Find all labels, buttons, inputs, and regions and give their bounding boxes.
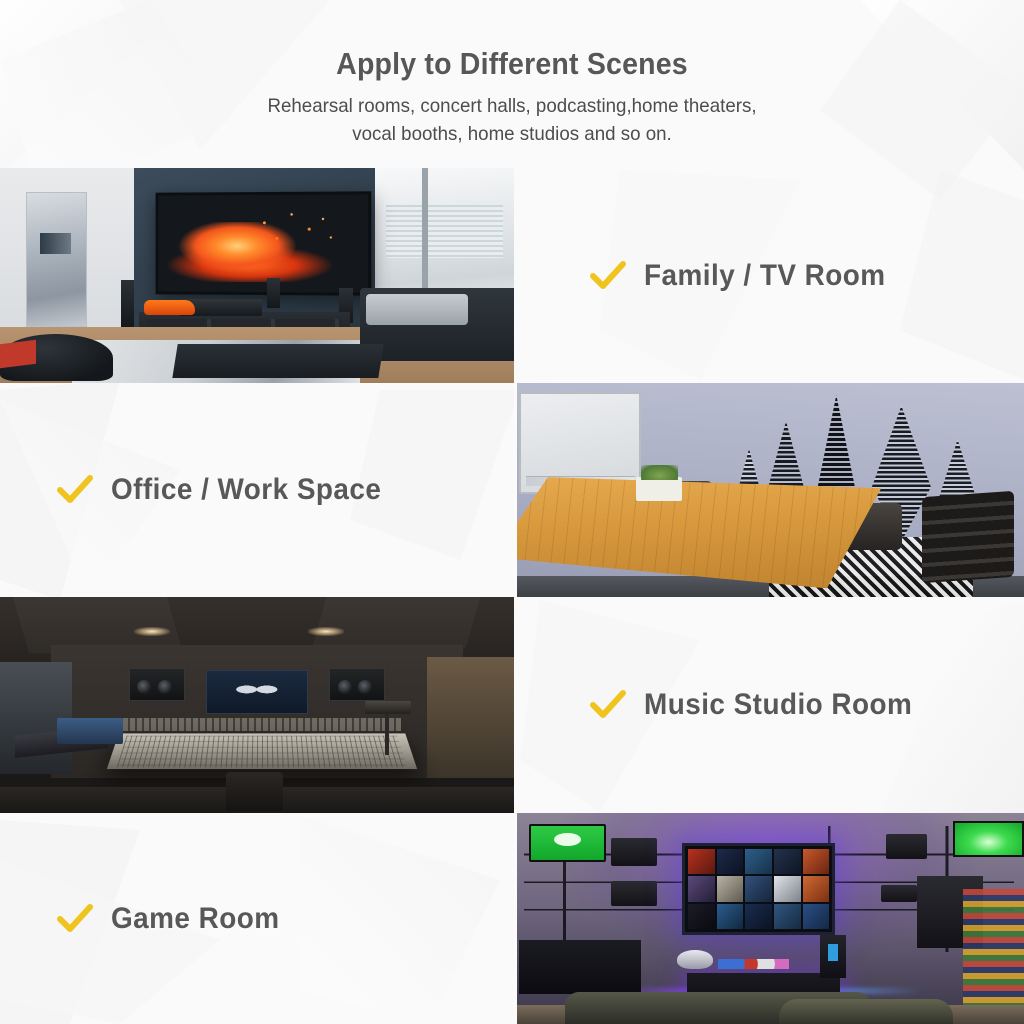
checkmark-icon <box>588 256 628 296</box>
mixing-console <box>107 733 418 769</box>
scene-photo-family-tv-room <box>0 168 514 383</box>
checkmark-icon <box>55 899 95 939</box>
page-title: Apply to Different Scenes <box>41 46 983 82</box>
scene-label: Music Studio Room <box>644 688 912 722</box>
scene-photo-office-work-space <box>514 383 1024 597</box>
scene-photo-music-studio-room <box>0 597 514 813</box>
scene-label: Game Room <box>111 902 280 936</box>
infographic-page: Apply to Different Scenes Rehearsal room… <box>0 0 1024 1024</box>
scene-caption-office-work-space: Office / Work Space <box>0 383 514 597</box>
scene-row-office-work-space: Office / Work Space <box>0 383 1024 597</box>
page-subtitle: Rehearsal rooms, concert halls, podcasti… <box>20 93 1003 148</box>
projector-screen <box>156 191 372 296</box>
scene-row-game-room: Game Room <box>0 813 1024 1024</box>
scene-caption-music-studio-room: Music Studio Room <box>514 597 1024 813</box>
scene-caption-game-room: Game Room <box>0 813 514 1024</box>
checkmark-icon <box>588 685 628 725</box>
subtitle-line-2: vocal booths, home studios and so on. <box>20 121 1003 149</box>
header: Apply to Different Scenes Rehearsal room… <box>0 0 1024 168</box>
subtitle-line-1: Rehearsal rooms, concert halls, podcasti… <box>20 93 1003 121</box>
studio-display <box>206 670 309 713</box>
scene-row-family-tv-room: Family / TV Room <box>0 168 1024 383</box>
scene-caption-family-tv-room: Family / TV Room <box>514 168 1024 383</box>
scene-label: Office / Work Space <box>111 473 381 507</box>
scene-photo-game-room <box>514 813 1024 1024</box>
xbox-sign <box>529 824 606 862</box>
scene-row-music-studio-room: Music Studio Room <box>0 597 1024 813</box>
scene-label: Family / TV Room <box>644 259 886 293</box>
wall-mounted-tv <box>682 843 835 936</box>
checkmark-icon <box>55 470 95 510</box>
